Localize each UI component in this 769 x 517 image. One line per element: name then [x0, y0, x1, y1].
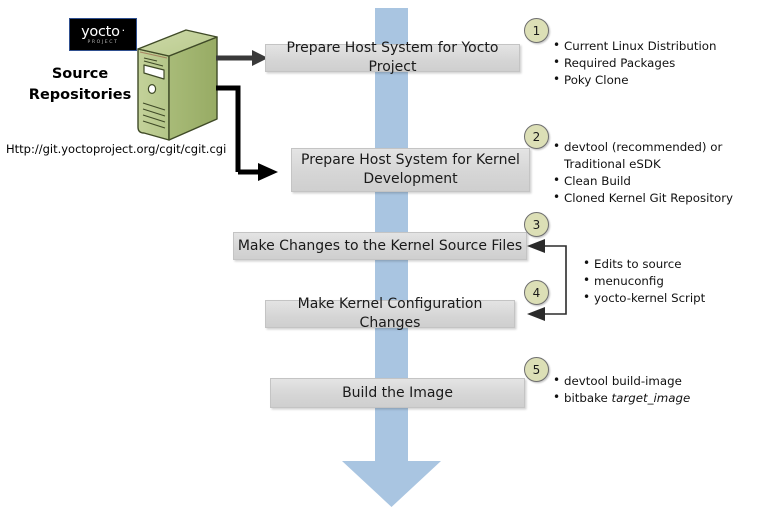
step-badge-4: 4 [524, 280, 549, 305]
list-item: Current Linux Distribution [553, 38, 758, 55]
server-tower-icon [133, 27, 223, 142]
step-5-bullet-list: devtool build-image bitbake target_image [553, 373, 758, 407]
step-badge-3: 3 [524, 212, 549, 237]
diagram-canvas: yocto· PROJECT Source Repositories Http:… [0, 0, 769, 517]
process-box-label: Make Changes to the Kernel Source Files [238, 237, 522, 256]
flow-end-arrow-icon [340, 437, 443, 507]
yocto-project-logo: yocto· PROJECT [69, 18, 137, 51]
logo-dot: · [122, 24, 125, 37]
step-badge-5: 5 [524, 357, 549, 382]
bitbake-command: bitbake [564, 391, 612, 405]
source-repositories-url: Http://git.yoctoproject.org/cgit/cgit.cg… [6, 142, 226, 156]
logo-wordmark: yocto· [81, 24, 125, 39]
process-box-step-2[interactable]: Prepare Host System for Kernel Developme… [291, 148, 530, 192]
source-repositories-label: Source Repositories [20, 64, 140, 106]
bitbake-target-arg: target_image [612, 391, 691, 405]
process-box-label: Prepare Host System for Yocto Project [266, 39, 519, 77]
list-item: menuconfig [583, 273, 758, 290]
process-box-step-4[interactable]: Make Kernel Configuration Changes [265, 300, 515, 328]
process-box-label: Prepare Host System for Kernel Developme… [292, 151, 529, 189]
step-badge-1: 1 [524, 18, 549, 43]
step-3-4-bullet-list: Edits to source menuconfig yocto-kernel … [583, 256, 758, 307]
logo-subtext: PROJECT [87, 39, 118, 46]
process-box-label: Build the Image [342, 384, 453, 403]
process-box-step-1[interactable]: Prepare Host System for Yocto Project [265, 44, 520, 72]
step-badge-2: 2 [524, 124, 549, 149]
list-item: devtool build-image [553, 373, 758, 390]
step-2-bullet-list: devtool (recommended) or Traditional eSD… [553, 139, 758, 207]
process-box-step-3[interactable]: Make Changes to the Kernel Source Files [233, 232, 527, 260]
list-item: bitbake target_image [553, 390, 758, 407]
list-item: Required Packages [553, 55, 758, 72]
list-item: devtool (recommended) or Traditional eSD… [553, 139, 758, 173]
logo-word-text: yocto [81, 24, 119, 40]
step-1-bullet-list: Current Linux Distribution Required Pack… [553, 38, 758, 89]
process-box-label: Make Kernel Configuration Changes [266, 295, 514, 333]
list-item: Edits to source [583, 256, 758, 273]
process-box-step-5[interactable]: Build the Image [270, 378, 525, 408]
list-item: yocto-kernel Script [583, 290, 758, 307]
list-item: Cloned Kernel Git Repository [553, 190, 758, 207]
list-item: Clean Build [553, 173, 758, 190]
list-item: Poky Clone [553, 72, 758, 89]
